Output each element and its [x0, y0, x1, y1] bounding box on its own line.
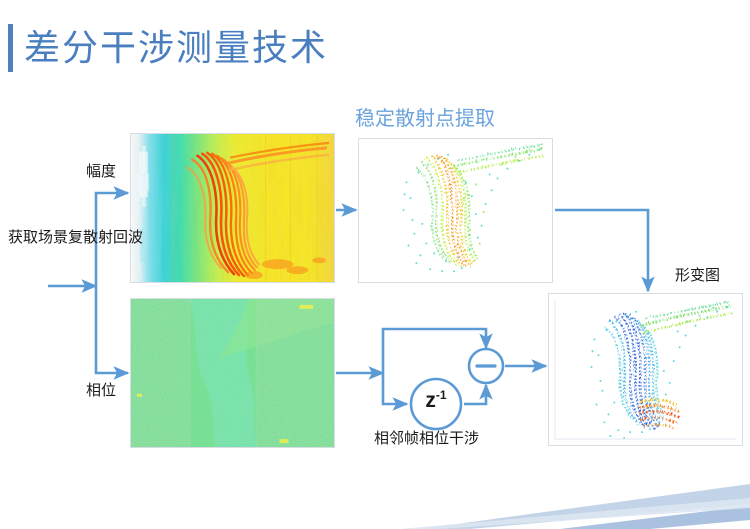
phase-image-panel	[130, 298, 335, 448]
sar-phase-image	[131, 299, 334, 447]
subtract-node	[469, 349, 503, 383]
delay-symbol: z	[425, 389, 436, 412]
interference-caption: 相邻帧相位干涉	[374, 429, 479, 450]
slide-canvas: 差分干涉测量技术	[0, 0, 750, 529]
deformation-image-panel	[548, 293, 743, 446]
amplitude-image-panel	[130, 133, 335, 283]
deformation-map-label: 形变图	[675, 266, 720, 287]
source-label: 获取场景复散射回波	[8, 228, 116, 249]
deformation-map-image	[549, 294, 742, 445]
amplitude-label: 幅度	[86, 162, 116, 183]
sar-amplitude-image	[131, 134, 334, 282]
page-title: 差分干涉测量技术	[24, 22, 328, 74]
scatterer-image-panel	[358, 138, 553, 283]
title-accent-bar	[8, 24, 13, 72]
phase-label: 相位	[86, 381, 116, 402]
stable-scatterer-point-cloud	[359, 139, 552, 282]
delay-exponent: -1	[436, 388, 447, 402]
extraction-heading: 稳定散射点提取	[355, 106, 495, 132]
decorative-ribbon	[0, 460, 750, 529]
unit-delay-label: z-1	[408, 388, 464, 413]
